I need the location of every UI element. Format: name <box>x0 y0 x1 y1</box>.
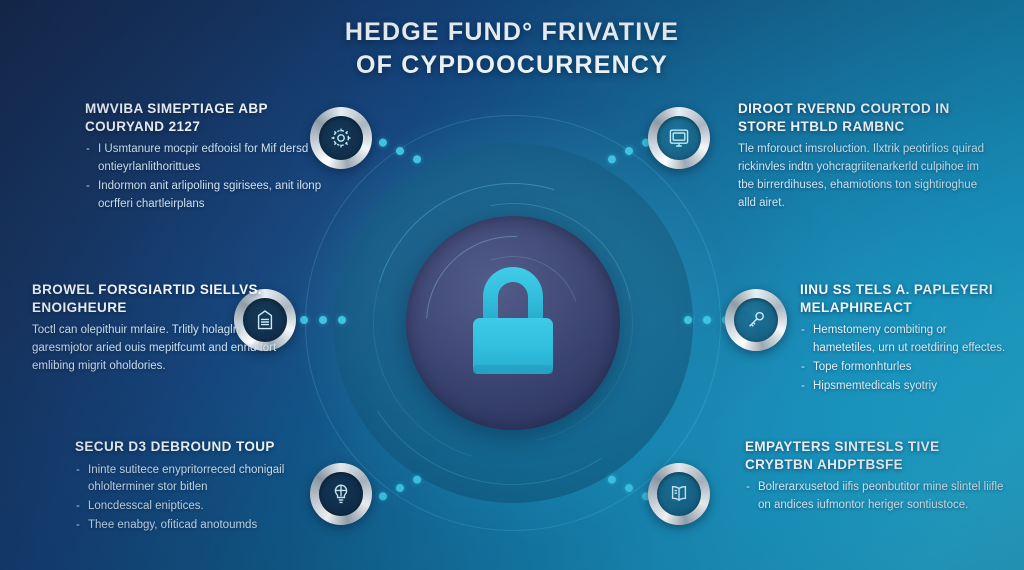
block-heading: SECUR D3 DEBROUND TOUP <box>75 438 337 456</box>
block-heading: IINU SS TELS A. PAPLEYERI MELAPHIREACT <box>800 281 1010 316</box>
list-item: I Usmtanure mocpir edfooisl for Mif ders… <box>85 141 335 177</box>
text-block-middle-right: IINU SS TELS A. PAPLEYERI MELAPHIREACT H… <box>800 281 1010 396</box>
central-ring-assembly <box>311 121 715 525</box>
key-icon <box>744 308 768 332</box>
connector-dots <box>300 316 346 324</box>
list-item: Bolrerarxusetod iifis peonbutitor mine s… <box>745 479 1007 515</box>
list-item: Indormon anit arlipoliing sgirisees, ani… <box>85 178 335 214</box>
badge-inner <box>734 298 778 342</box>
block-paragraph: Tle mforouct imsroluction. Ilxtrik peoti… <box>738 141 990 212</box>
block-heading: BROWEL FORSGIARTID SIELLVS. ENOIGHEURE <box>32 281 288 316</box>
text-block-top-left: MWVIBA SIMEPTIAGE ABP COURYAND 2127 I Us… <box>85 100 335 214</box>
block-bullet-list: I Usmtanure mocpir edfooisl for Mif ders… <box>85 141 335 213</box>
center-core-circle <box>406 216 620 430</box>
book-icon <box>667 482 691 506</box>
list-item: Ininte sutitece enypritorreced chonigail… <box>75 462 337 498</box>
title-line-1: HEDGE FUND° FRIVATIVE <box>345 18 679 46</box>
block-bullet-list: Bolrerarxusetod iifis peonbutitor mine s… <box>745 479 1007 515</box>
list-item: Hemstomeny combiting or hametetiles, urn… <box>800 322 1010 358</box>
block-heading: MWVIBA SIMEPTIAGE ABP COURYAND 2127 <box>85 100 335 135</box>
block-heading: DIROOT RVERND COURTOD IN STORE HTBLD RAM… <box>738 100 990 135</box>
text-block-middle-left: BROWEL FORSGIARTID SIELLVS. ENOIGHEURE T… <box>32 281 288 376</box>
badge-book <box>648 463 710 525</box>
badge-monitor <box>648 107 710 169</box>
block-bullet-list: Hemstomeny combiting or hametetiles, urn… <box>800 322 1010 395</box>
block-paragraph: Toctl can olepithuir mrlaire. Trlitly ho… <box>32 322 288 375</box>
text-block-bottom-left: SECUR D3 DEBROUND TOUP Ininte sutitece e… <box>75 438 337 536</box>
badge-key <box>725 289 787 351</box>
infographic-canvas: HEDGE FUND° FRIVATIVE OF CYPDOOCURRENCY <box>0 0 1024 570</box>
badge-inner <box>657 472 701 516</box>
list-item: Hipsmemtedicals syotriy <box>800 378 1010 396</box>
block-bullet-list: Ininte sutitece enypritorreced chonigail… <box>75 462 337 535</box>
padlock-icon <box>457 261 569 385</box>
list-item: Tope formonhturles <box>800 359 1010 377</box>
connector-dots <box>684 316 730 324</box>
title-line-2: OF CYPDOOCURRENCY <box>0 49 1024 82</box>
text-block-bottom-right: EMPAYTERS SINTESLS TIVE CRYBTBN AHDPTBSF… <box>745 438 1007 516</box>
list-item: Loncdesscal eniptices. <box>75 498 337 516</box>
monitor-icon <box>667 126 691 150</box>
badge-inner <box>657 116 701 160</box>
list-item: Thee enabgy, ofiticad anotoumds <box>75 517 337 535</box>
page-title: HEDGE FUND° FRIVATIVE OF CYPDOOCURRENCY <box>0 16 1024 82</box>
text-block-top-right: DIROOT RVERND COURTOD IN STORE HTBLD RAM… <box>738 100 990 212</box>
block-heading: EMPAYTERS SINTESLS TIVE CRYBTBN AHDPTBSF… <box>745 438 1007 473</box>
